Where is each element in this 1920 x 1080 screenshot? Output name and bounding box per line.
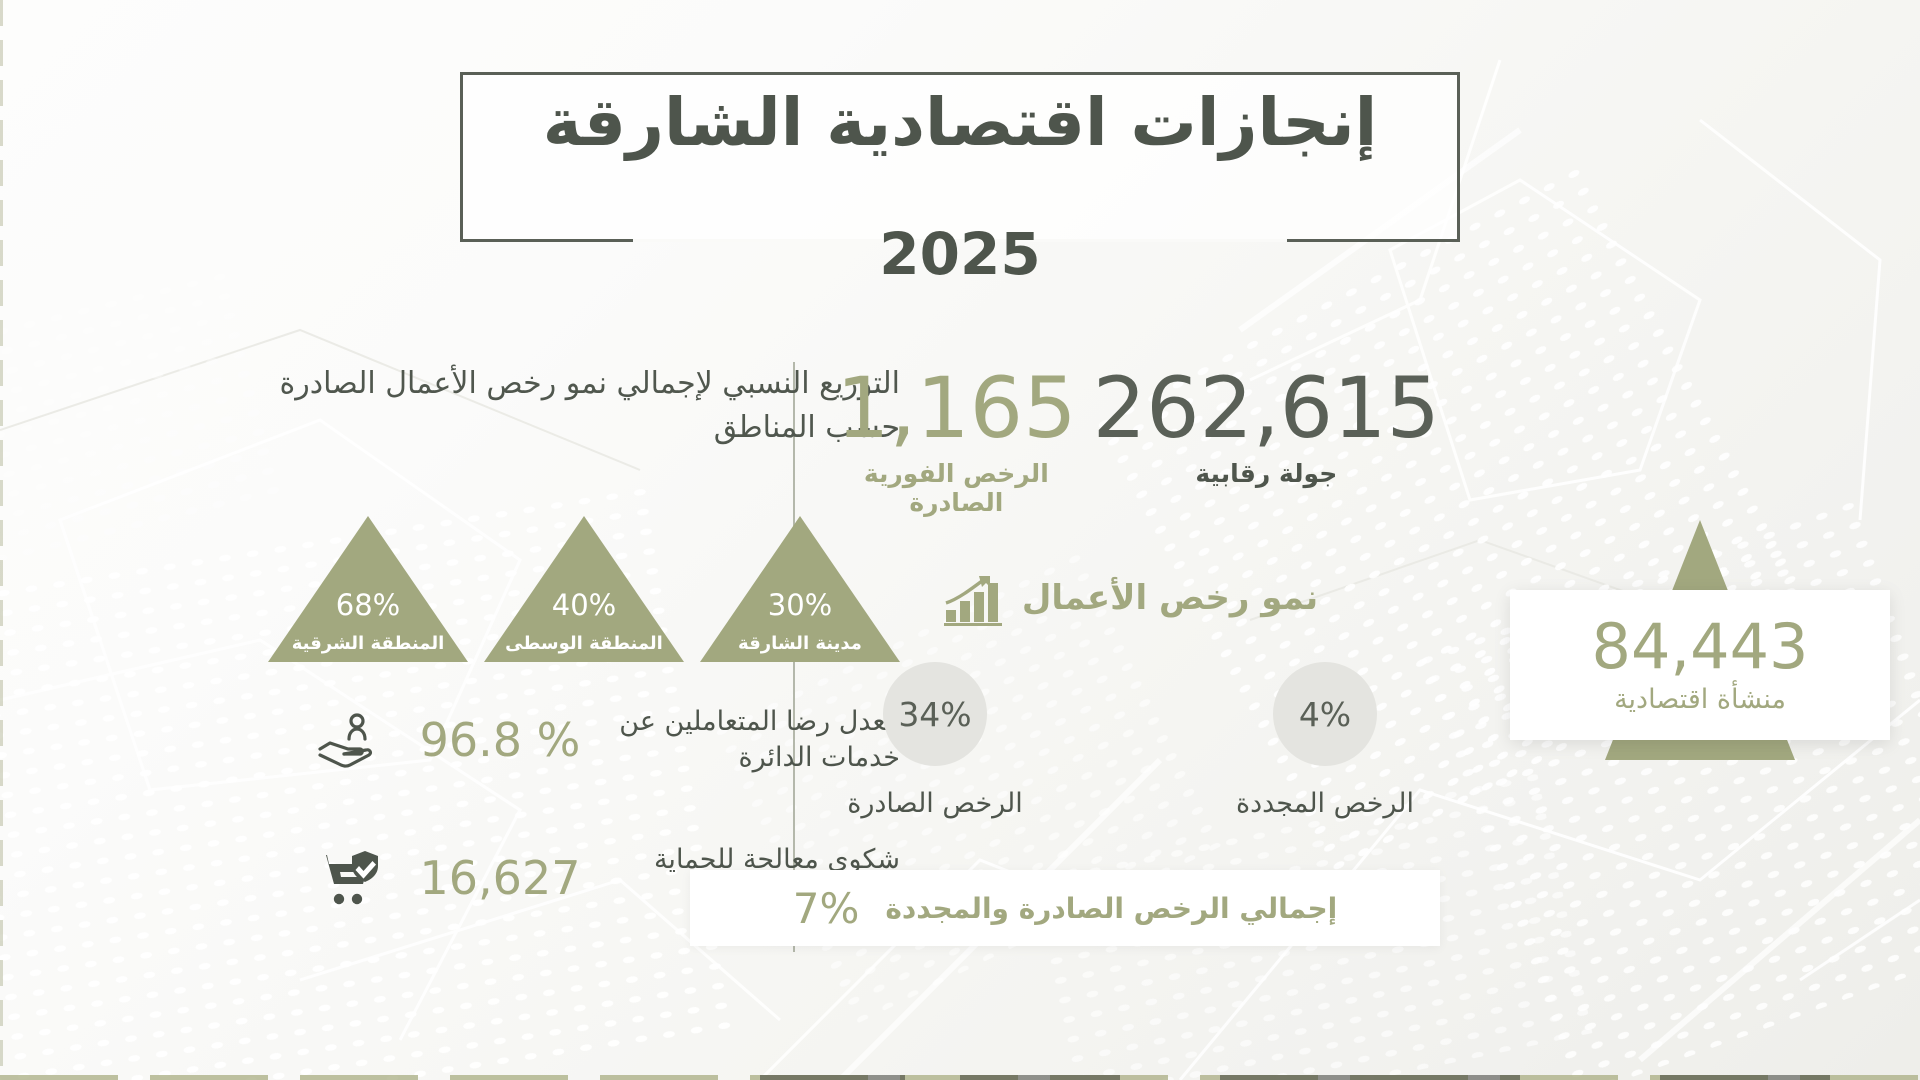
stat-value: 96.8 % (400, 713, 600, 767)
percent-badge: 34% (883, 662, 987, 766)
region-percent: 68% (268, 588, 468, 622)
regions-panel: التوزيع النسبي لإجمالي نمو رخص الأعمال ا… (260, 362, 900, 449)
cart-shield-check-icon (296, 849, 400, 907)
left-edge-dashed-rule (0, 0, 3, 1080)
regions-heading: التوزيع النسبي لإجمالي نمو رخص الأعمال ا… (260, 362, 900, 449)
region-name: المنطقة الشرقية (268, 633, 468, 654)
bar-chart-growth-icon (942, 570, 1004, 626)
licenses-panel: 262,615 جولة رقابية 1,165 الرخص الفورية … (820, 370, 1440, 517)
region-name: مدينة الشارقة (700, 633, 900, 654)
stat-caption: الرخص الفورية الصادرة (820, 459, 1093, 517)
bottom-dark-dashed-rule (0, 1075, 1920, 1080)
stat-value: 262,615 (1093, 370, 1440, 447)
stat-value: 1,165 (820, 370, 1093, 447)
page-year: 2025 (460, 220, 1460, 288)
stat-caption: جولة رقابية (1093, 459, 1440, 488)
establishments-card: 84,443 منشأة اقتصادية (1510, 520, 1890, 790)
establishments-label: منشأة اقتصادية (1614, 684, 1786, 715)
dot-pattern-left (0, 267, 285, 572)
growth-title: نمو رخص الأعمال (1022, 578, 1318, 618)
establishments-value: 84,443 (1592, 616, 1809, 678)
percent-badge: 4% (1273, 662, 1377, 766)
stat-value: 16,627 (400, 851, 600, 905)
stat-row-satisfaction: معدل رضا المتعاملين عن خدمات الدائرة 96.… (260, 692, 900, 788)
region-triangle-eastern: 68% المنطقة الشرقية (268, 516, 468, 662)
growth-breakdown: 4% الرخص المجددة 34% الرخص الصادرة (820, 662, 1440, 819)
infographic-canvas: إنجازات اقتصادية الشارقة 2025 التوزيع ال… (0, 0, 1920, 1080)
bottom-olive-dashed-rule (0, 1075, 1920, 1080)
page-title: إنجازات اقتصادية الشارقة (460, 90, 1460, 156)
breakdown-issued-licenses: 34% الرخص الصادرة (820, 662, 1050, 819)
headline-stat-inspection-tours: 262,615 جولة رقابية (1093, 370, 1440, 488)
region-triangle-central: 40% المنطقة الوسطى (484, 516, 684, 662)
growth-heading: نمو رخص الأعمال (820, 570, 1440, 626)
total-label: إجمالي الرخص الصادرة والمجددة (885, 892, 1337, 925)
region-percent: 40% (484, 588, 684, 622)
headline-stats: 262,615 جولة رقابية 1,165 الرخص الفورية … (820, 370, 1440, 517)
breakdown-renewed-licenses: 4% الرخص المجددة (1210, 662, 1440, 819)
total-licenses-bar: إجمالي الرخص الصادرة والمجددة 7% (690, 870, 1440, 946)
percent-label: الرخص المجددة (1210, 788, 1440, 819)
region-name: المنطقة الوسطى (484, 633, 684, 654)
region-triangles: 30% مدينة الشارقة 40% المنطقة الوسطى 68%… (260, 502, 900, 662)
hand-person-icon (296, 712, 400, 768)
percent-label: الرخص الصادرة (820, 788, 1050, 819)
headline-stat-instant-licenses: 1,165 الرخص الفورية الصادرة (820, 370, 1093, 517)
total-percent: 7% (793, 884, 860, 933)
establishments-panel: 84,443 منشأة اقتصادية (1510, 590, 1890, 740)
header: إنجازات اقتصادية الشارقة 2025 (460, 72, 1460, 242)
